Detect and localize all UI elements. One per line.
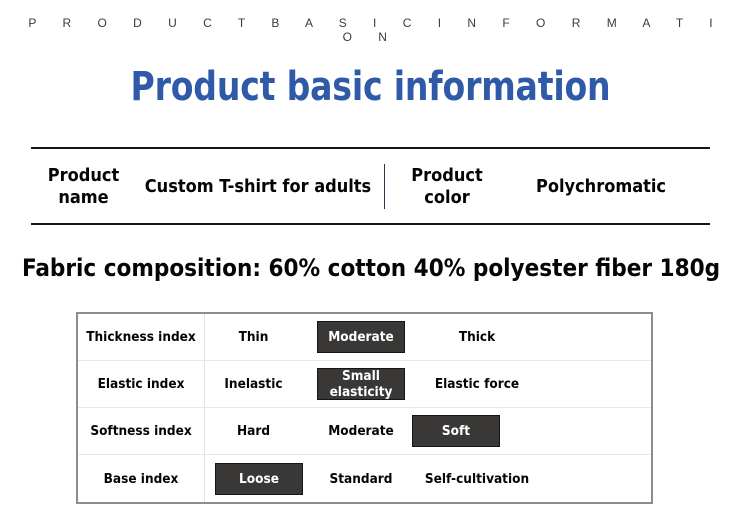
option-thin[interactable]: Thin xyxy=(205,329,302,345)
row-label-softness: Softness index xyxy=(78,408,205,454)
fabric-index-table: Thickness index Thin Moderate Thick Elas… xyxy=(76,312,653,504)
row-label-base: Base index xyxy=(78,455,205,502)
table-row: Softness index Hard Moderate Soft xyxy=(78,408,651,455)
option-hard[interactable]: Hard xyxy=(205,423,302,439)
product-info-row: Product name Custom T-shirt for adults P… xyxy=(31,149,710,223)
option-inelastic[interactable]: Inelastic xyxy=(205,376,302,392)
option-self-cultivation[interactable]: Self-cultivation xyxy=(412,471,542,487)
product-name-label: Product name xyxy=(31,165,136,209)
product-color-value: Polychromatic xyxy=(501,176,701,198)
page-title: Product basic information xyxy=(30,63,712,111)
info-column-divider xyxy=(384,164,385,209)
fabric-composition-text: Fabric composition: 60% cotton 40% polye… xyxy=(22,253,732,283)
row-label-thickness: Thickness index xyxy=(78,314,205,360)
option-moderate-selected[interactable]: Moderate xyxy=(317,321,405,353)
table-row: Base index Loose Standard Self-cultivati… xyxy=(78,455,651,502)
option-standard[interactable]: Standard xyxy=(317,471,405,487)
option-moderate[interactable]: Moderate xyxy=(317,423,405,439)
option-small-elasticity-selected[interactable]: Small elasticity xyxy=(317,368,405,400)
option-soft-selected[interactable]: Soft xyxy=(412,415,500,447)
row-label-elastic: Elastic index xyxy=(78,361,205,407)
option-elastic-force[interactable]: Elastic force xyxy=(412,376,542,392)
page-eyebrow: P R O D U C T B A S I C I N F O R M A T … xyxy=(0,16,741,44)
product-color-label: Product color xyxy=(393,165,501,209)
option-loose-selected[interactable]: Loose xyxy=(215,463,303,495)
product-name-value: Custom T-shirt for adults xyxy=(135,176,381,198)
table-row: Elastic index Inelastic Small elasticity… xyxy=(78,361,651,408)
option-thick[interactable]: Thick xyxy=(412,329,542,345)
table-row: Thickness index Thin Moderate Thick xyxy=(78,314,651,361)
product-info-band: Product name Custom T-shirt for adults P… xyxy=(31,147,710,225)
